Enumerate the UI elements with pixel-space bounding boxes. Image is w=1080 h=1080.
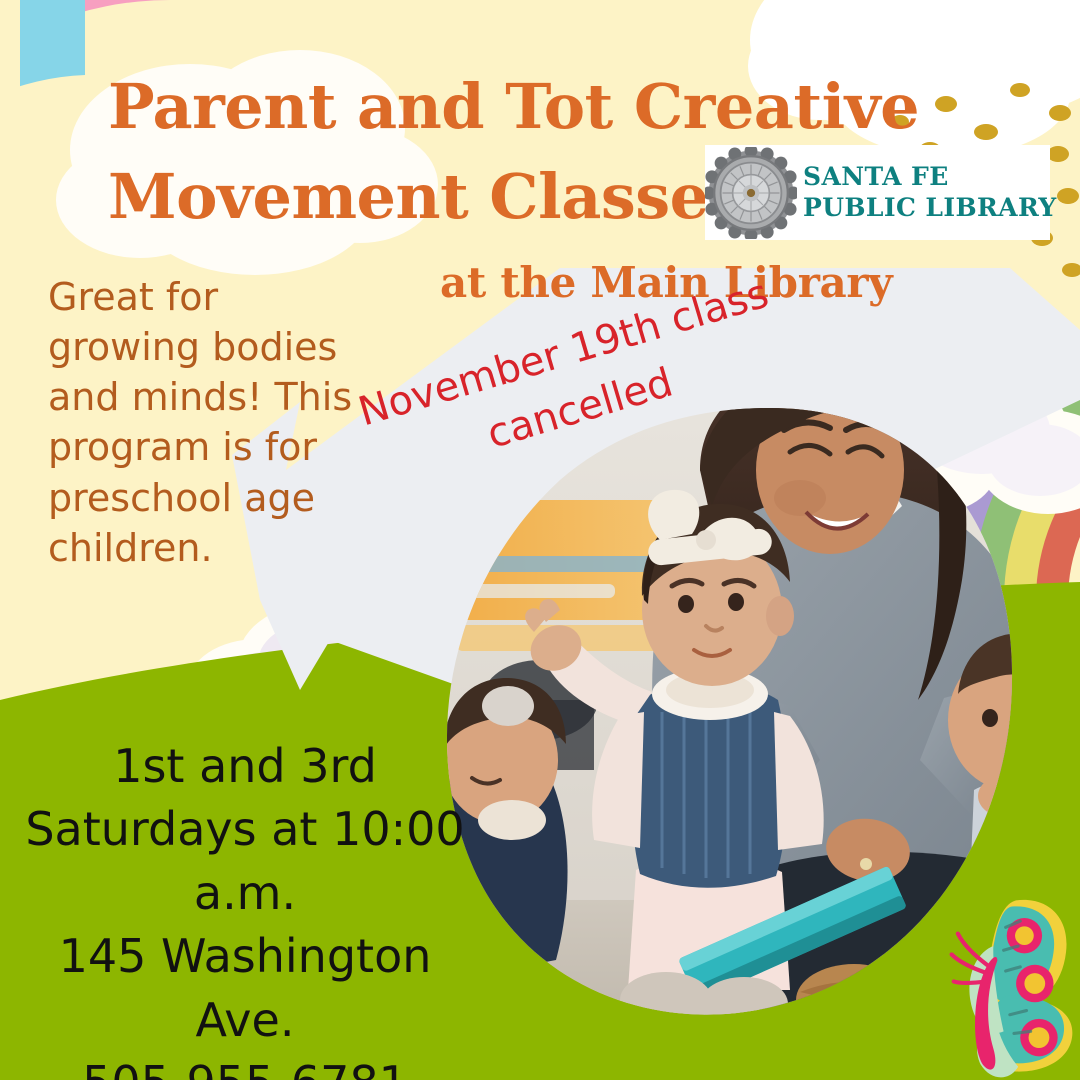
detail-schedule-line-1: 1st and 3rd — [10, 735, 480, 798]
library-logo: SANTA FE PUBLIC LIBRARY — [705, 145, 1050, 240]
detail-address: 145 Washington Ave. — [10, 925, 480, 1052]
library-logo-text: SANTA FE PUBLIC LIBRARY — [803, 162, 1057, 223]
detail-phone: 505-955-6781 — [10, 1052, 480, 1080]
headline-line-1: Parent and Tot Creative — [108, 62, 898, 152]
rosette-logo-icon — [705, 147, 797, 239]
program-description: Great for growing bodies and minds! This… — [48, 272, 368, 573]
logo-line-2: PUBLIC LIBRARY — [803, 193, 1057, 224]
logo-line-1: SANTA FE — [803, 162, 1057, 193]
poster: Parent and Tot Creative Movement Classes… — [0, 0, 1080, 1080]
detail-schedule-line-2: Saturdays at 10:00 — [10, 798, 480, 861]
detail-schedule-line-3: a.m. — [10, 862, 480, 925]
event-details: 1st and 3rd Saturdays at 10:00 a.m. 145 … — [10, 735, 480, 1080]
